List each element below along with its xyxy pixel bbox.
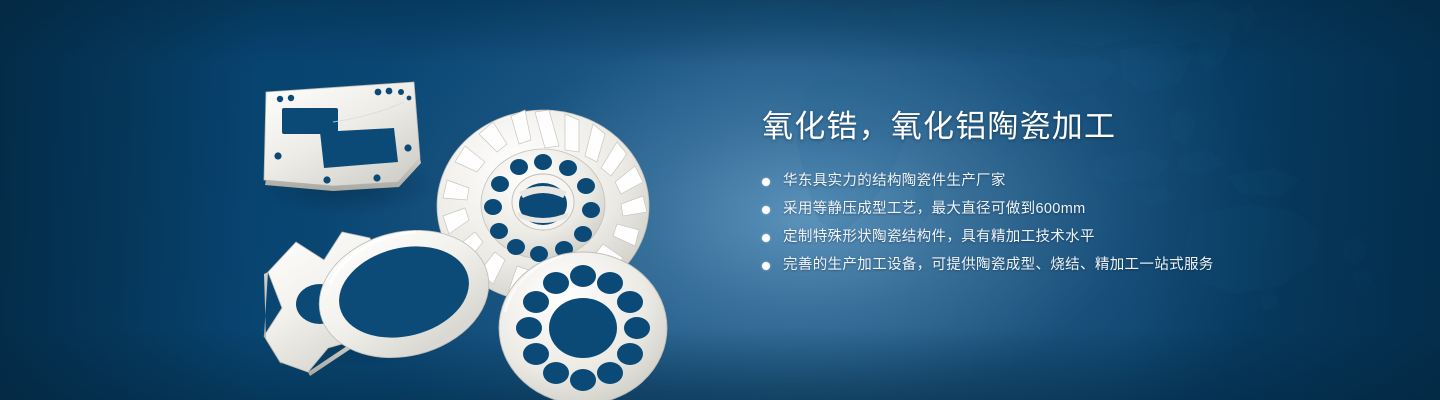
bullet-dot-icon xyxy=(762,178,770,186)
ceramic-perforated-disc xyxy=(499,252,667,400)
bullet-dot-icon xyxy=(762,234,770,242)
bullet-dot-icon xyxy=(762,206,770,214)
product-photo-cluster xyxy=(238,36,698,381)
feature-text: 采用等静压成型工艺，最大直径可做到600mm xyxy=(783,200,1086,220)
bullet-dot-icon xyxy=(762,262,770,270)
banner-text-block: 氧化锆，氧化铝陶瓷加工 华东具实力的结构陶瓷件生产厂家 采用等静压成型工艺，最大… xyxy=(762,108,1362,284)
list-item: 完善的生产加工设备，可提供陶瓷成型、烧结、精加工一站式服务 xyxy=(762,256,1362,276)
list-item: 采用等静压成型工艺，最大直径可做到600mm xyxy=(762,200,1362,220)
feature-text: 完善的生产加工设备，可提供陶瓷成型、烧结、精加工一站式服务 xyxy=(783,256,1214,276)
feature-list: 华东具实力的结构陶瓷件生产厂家 采用等静压成型工艺，最大直径可做到600mm 定… xyxy=(762,172,1362,276)
page-title: 氧化锆，氧化铝陶瓷加工 xyxy=(762,108,1362,147)
feature-text: 定制特殊形状陶瓷结构件，具有精加工技术水平 xyxy=(783,228,1095,248)
list-item: 华东具实力的结构陶瓷件生产厂家 xyxy=(762,172,1362,192)
feature-text: 华东具实力的结构陶瓷件生产厂家 xyxy=(783,172,1006,192)
ceramic-machined-plate xyxy=(264,82,421,191)
list-item: 定制特殊形状陶瓷结构件，具有精加工技术水平 xyxy=(762,228,1362,248)
hero-banner: 氧化锆，氧化铝陶瓷加工 华东具实力的结构陶瓷件生产厂家 采用等静压成型工艺，最大… xyxy=(0,0,1440,400)
